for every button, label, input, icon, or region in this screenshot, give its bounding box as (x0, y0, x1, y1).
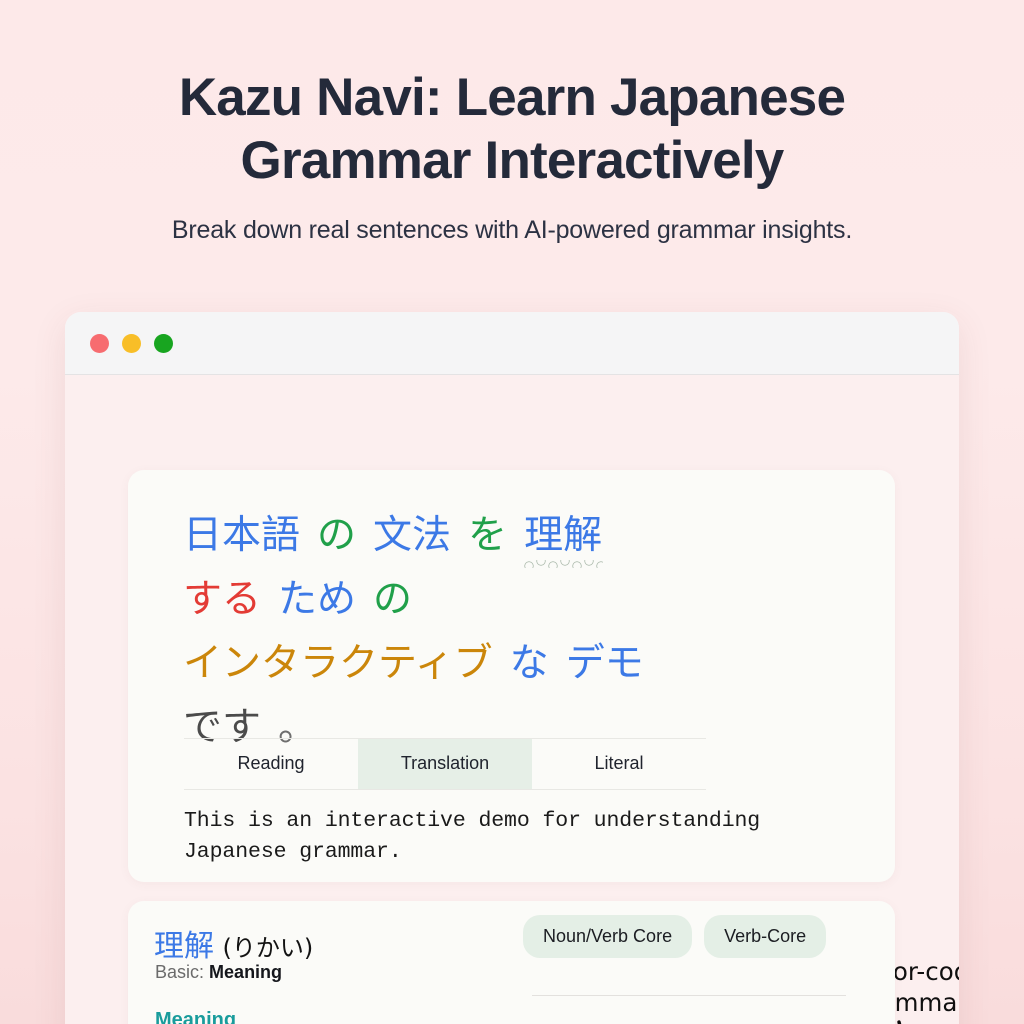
badge-verb-core[interactable]: Verb-Core (704, 915, 826, 958)
word-reading: (りかい) (222, 934, 313, 962)
word-heading: 理解 (りかい) (154, 921, 313, 965)
sentence-token[interactable]: を (468, 515, 507, 557)
word-kanji[interactable]: 理解 (154, 929, 214, 964)
sentence-token[interactable]: デモ (566, 643, 644, 685)
window-titlebar (65, 312, 959, 375)
tab-literal[interactable]: Literal (532, 739, 706, 789)
sentence-token[interactable]: インタラクティブ (183, 643, 493, 685)
sentence-tabs: Reading Translation Literal (184, 738, 706, 790)
page-title-line-2: Grammar Interactively (0, 129, 1024, 192)
page-title-line-1: Kazu Navi: Learn Japanese (0, 66, 1024, 129)
tab-reading[interactable]: Reading (184, 739, 358, 789)
sentence-token[interactable]: ため (278, 579, 356, 621)
sentence-token[interactable]: な (510, 643, 549, 685)
word-meaning-heading: Meaning (155, 1009, 236, 1024)
sentence-card: 日本語 の 文法 を 理解 する ため の インタラクティブ な デモ です 。… (128, 470, 895, 882)
window-minimize-icon[interactable] (122, 334, 141, 353)
sentence-token-selected[interactable]: 理解 (524, 515, 602, 557)
window-body: 日本語 の 文法 を 理解 する ため の インタラクティブ な デモ です 。… (65, 375, 959, 1024)
word-basic-line: Basic: Meaning (155, 962, 282, 983)
sentence-token[interactable]: の (317, 515, 356, 557)
window-maximize-icon[interactable] (154, 334, 173, 353)
window-close-icon[interactable] (90, 334, 109, 353)
page-subtitle: Break down real sentences with AI-powere… (0, 216, 1024, 245)
translation-text: This is an interactive demo for understa… (184, 806, 844, 868)
sentence-token[interactable]: の (373, 579, 412, 621)
sentence-token[interactable]: 日本語 (183, 515, 300, 557)
hero-section: Kazu Navi: Learn Japanese Grammar Intera… (0, 0, 1024, 245)
word-card-divider (532, 995, 846, 996)
tab-translation[interactable]: Translation (358, 739, 532, 789)
word-basic-value: Meaning (209, 962, 282, 982)
badge-noun-verb-core[interactable]: Noun/Verb Core (523, 915, 692, 958)
translation-line-1: This is an interactive demo for understa… (184, 806, 844, 837)
sentence-token[interactable]: 文法 (373, 515, 451, 557)
parsed-sentence: 日本語 の 文法 を 理解 する ため の インタラクティブ な デモ です 。 (128, 470, 673, 749)
translation-line-2: Japanese grammar. (184, 837, 844, 868)
sentence-token[interactable]: する (183, 579, 261, 621)
word-detail-card: 理解 (りかい) Basic: Meaning Meaning Understa… (128, 901, 895, 1024)
word-tag-badges: Noun/Verb Core Verb-Core (523, 915, 826, 958)
browser-window: 日本語 の 文法 を 理解 する ため の インタラクティブ な デモ です 。… (65, 312, 959, 1024)
word-basic-label: Basic: (155, 962, 204, 982)
page-title: Kazu Navi: Learn Japanese Grammar Intera… (0, 66, 1024, 192)
